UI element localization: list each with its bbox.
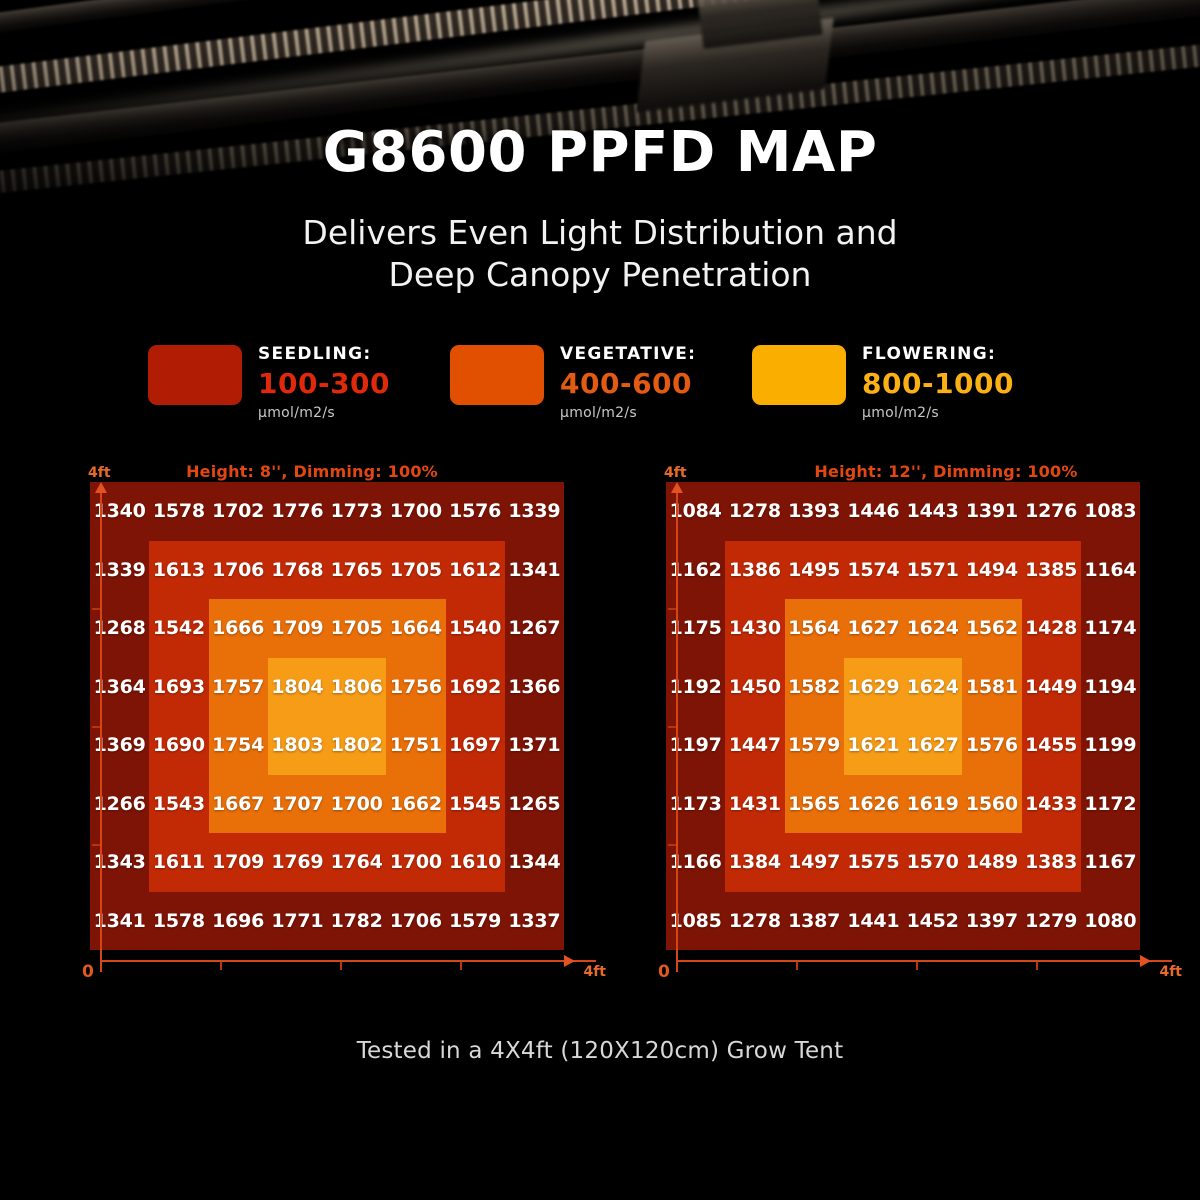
ppfd-cell: 1621 xyxy=(844,716,903,775)
ppfd-cell: 1344 xyxy=(505,833,564,892)
ppfd-cell: 1804 xyxy=(268,658,327,717)
ppfd-cell: 1397 xyxy=(962,892,1021,951)
ppfd-cell: 1662 xyxy=(386,775,445,834)
y-axis-tick xyxy=(668,726,676,728)
ppfd-cell: 1339 xyxy=(90,541,149,600)
ppfd-cell: 1776 xyxy=(268,482,327,541)
ppfd-cell: 1197 xyxy=(666,716,725,775)
y-axis-tick xyxy=(668,844,676,846)
ppfd-cell: 1706 xyxy=(209,541,268,600)
ppfd-cell: 1626 xyxy=(844,775,903,834)
ppfd-cell: 1564 xyxy=(785,599,844,658)
x-axis-tick xyxy=(916,962,918,970)
legend-range-vegetative: 400-600 xyxy=(560,370,696,398)
ppfd-grid-8in: 1340157817021776177317001576133913391613… xyxy=(90,482,564,950)
ppfd-cell: 1700 xyxy=(386,833,445,892)
ppfd-cell: 1700 xyxy=(327,775,386,834)
ppfd-cell: 1666 xyxy=(209,599,268,658)
ppfd-cell: 1278 xyxy=(725,482,784,541)
ppfd-cell: 1085 xyxy=(666,892,725,951)
ppfd-cell: 1337 xyxy=(505,892,564,951)
ppfd-cell: 1278 xyxy=(725,892,784,951)
ppfd-cell: 1497 xyxy=(785,833,844,892)
ppfd-cell: 1167 xyxy=(1081,833,1140,892)
footer-note: Tested in a 4X4ft (120X120cm) Grow Tent xyxy=(0,1038,1200,1064)
origin-label-12in: 0 xyxy=(658,962,670,982)
ppfd-cell: 1267 xyxy=(505,599,564,658)
ppfd-cell: 1803 xyxy=(268,716,327,775)
ppfd-cell: 1709 xyxy=(268,599,327,658)
legend-item-flowering: FLOWERING: 800-1000 µmol/m2/s xyxy=(752,345,1054,417)
ppfd-cell: 1164 xyxy=(1081,541,1140,600)
ppfd-plot-12in: 1084127813931446144313911276108311621386… xyxy=(666,482,1140,950)
subtitle-line-2: Deep Canopy Penetration xyxy=(0,254,1200,296)
ppfd-cell: 1806 xyxy=(327,658,386,717)
ppfd-cell: 1393 xyxy=(785,482,844,541)
x-axis-arrow-icon-12in xyxy=(1140,955,1151,967)
ppfd-cell: 1627 xyxy=(844,599,903,658)
y-axis-tick xyxy=(92,608,100,610)
ppfd-cell: 1385 xyxy=(1022,541,1081,600)
origin-label-8in: 0 xyxy=(82,962,94,982)
ppfd-cell: 1690 xyxy=(149,716,208,775)
ppfd-cell: 1610 xyxy=(446,833,505,892)
page-subtitle: Delivers Even Light Distribution and Dee… xyxy=(0,212,1200,296)
map-title-12in: Height: 12'', Dimming: 100% xyxy=(700,462,1192,481)
ppfd-cell: 1431 xyxy=(725,775,784,834)
legend-range-flowering: 800-1000 xyxy=(862,370,1014,398)
y-axis-tick xyxy=(668,608,676,610)
legend-unit-flowering: µmol/m2/s xyxy=(862,406,1014,420)
ppfd-cell: 1629 xyxy=(844,658,903,717)
y-axis-tick xyxy=(92,844,100,846)
legend-swatch-flowering xyxy=(752,345,846,405)
y-axis-max-label-8in: 4ft xyxy=(88,465,111,481)
ppfd-cell: 1543 xyxy=(149,775,208,834)
legend-swatch-vegetative xyxy=(450,345,544,405)
subtitle-line-1: Delivers Even Light Distribution and xyxy=(0,212,1200,254)
ppfd-cell: 1700 xyxy=(386,482,445,541)
ppfd-cell: 1276 xyxy=(1022,482,1081,541)
ppfd-cell: 1581 xyxy=(962,658,1021,717)
y-axis-max-label-12in: 4ft xyxy=(664,465,687,481)
legend-label-flowering: FLOWERING: xyxy=(862,346,1014,363)
ppfd-cell: 1611 xyxy=(149,833,208,892)
legend-item-vegetative: VEGETATIVE: 400-600 µmol/m2/s xyxy=(450,345,752,417)
x-axis-12in xyxy=(676,960,1172,962)
ppfd-cell: 1540 xyxy=(446,599,505,658)
ppfd-cell: 1443 xyxy=(903,482,962,541)
ppfd-cell: 1387 xyxy=(785,892,844,951)
ppfd-plot-8in: 1340157817021776177317001576133913391613… xyxy=(90,482,564,950)
ppfd-cell: 1751 xyxy=(386,716,445,775)
ppfd-cell: 1705 xyxy=(327,599,386,658)
ppfd-cell: 1447 xyxy=(725,716,784,775)
ppfd-cell: 1495 xyxy=(785,541,844,600)
ppfd-cell: 1579 xyxy=(785,716,844,775)
ppfd-cell: 1757 xyxy=(209,658,268,717)
ppfd-cell: 1194 xyxy=(1081,658,1140,717)
ppfd-cell: 1578 xyxy=(149,892,208,951)
ppfd-cell: 1771 xyxy=(268,892,327,951)
ppfd-cell: 1080 xyxy=(1081,892,1140,951)
ppfd-cell: 1765 xyxy=(327,541,386,600)
ppfd-cell: 1386 xyxy=(725,541,784,600)
ppfd-cell: 1768 xyxy=(268,541,327,600)
ppfd-cell: 1279 xyxy=(1022,892,1081,951)
ppfd-cell: 1667 xyxy=(209,775,268,834)
ppfd-cell: 1706 xyxy=(386,892,445,951)
ppfd-cell: 1576 xyxy=(446,482,505,541)
ppfd-cell: 1578 xyxy=(149,482,208,541)
ppfd-grid-12in: 1084127813931446144313911276108311621386… xyxy=(666,482,1140,950)
ppfd-cell: 1162 xyxy=(666,541,725,600)
ppfd-cell: 1754 xyxy=(209,716,268,775)
ppfd-cell: 1450 xyxy=(725,658,784,717)
ppfd-cell: 1166 xyxy=(666,833,725,892)
x-axis-tick xyxy=(1036,962,1038,970)
ppfd-cell: 1575 xyxy=(844,833,903,892)
ppfd-cell: 1391 xyxy=(962,482,1021,541)
legend-label-seedling: SEEDLING: xyxy=(258,346,390,363)
x-axis-8in xyxy=(100,960,596,962)
ppfd-cell: 1173 xyxy=(666,775,725,834)
ppfd-cell: 1619 xyxy=(903,775,962,834)
y-axis-tick xyxy=(92,726,100,728)
ppfd-cell: 1428 xyxy=(1022,599,1081,658)
ppfd-cell: 1697 xyxy=(446,716,505,775)
ppfd-cell: 1693 xyxy=(149,658,208,717)
x-axis-arrow-icon-8in xyxy=(564,955,575,967)
ppfd-infographic: G8600 PPFD MAP Delivers Even Light Distr… xyxy=(0,0,1200,1200)
ppfd-cell: 1192 xyxy=(666,658,725,717)
ppfd-cell: 1341 xyxy=(505,541,564,600)
ppfd-cell: 1433 xyxy=(1022,775,1081,834)
ppfd-cell: 1199 xyxy=(1081,716,1140,775)
ppfd-cell: 1613 xyxy=(149,541,208,600)
ppfd-cell: 1449 xyxy=(1022,658,1081,717)
ppfd-cell: 1371 xyxy=(505,716,564,775)
ppfd-cell: 1489 xyxy=(962,833,1021,892)
ppfd-cell: 1579 xyxy=(446,892,505,951)
x-axis-tick xyxy=(340,962,342,970)
ppfd-cell: 1570 xyxy=(903,833,962,892)
ppfd-cell: 1369 xyxy=(90,716,149,775)
legend-label-vegetative: VEGETATIVE: xyxy=(560,346,696,363)
ppfd-cell: 1560 xyxy=(962,775,1021,834)
ppfd-cell: 1384 xyxy=(725,833,784,892)
ppfd-cell: 1364 xyxy=(90,658,149,717)
ppfd-cell: 1576 xyxy=(962,716,1021,775)
legend-range-seedling: 100-300 xyxy=(258,370,390,398)
ppfd-cell: 1455 xyxy=(1022,716,1081,775)
ppfd-cell: 1582 xyxy=(785,658,844,717)
ppfd-cell: 1664 xyxy=(386,599,445,658)
ppfd-cell: 1452 xyxy=(903,892,962,951)
ppfd-cell: 1545 xyxy=(446,775,505,834)
page-title: G8600 PPFD MAP xyxy=(0,120,1200,185)
ppfd-cell: 1172 xyxy=(1081,775,1140,834)
ppfd-cell: 1542 xyxy=(149,599,208,658)
ppfd-cell: 1446 xyxy=(844,482,903,541)
ppfd-cell: 1692 xyxy=(446,658,505,717)
ppfd-cell: 1574 xyxy=(844,541,903,600)
ppfd-cell: 1627 xyxy=(903,716,962,775)
ppfd-cell: 1696 xyxy=(209,892,268,951)
ppfd-cell: 1707 xyxy=(268,775,327,834)
ppfd-cell: 1709 xyxy=(209,833,268,892)
ppfd-cell: 1571 xyxy=(903,541,962,600)
ppfd-cell: 1383 xyxy=(1022,833,1081,892)
ppfd-cell: 1430 xyxy=(725,599,784,658)
ppfd-cell: 1769 xyxy=(268,833,327,892)
ppfd-cell: 1702 xyxy=(209,482,268,541)
x-axis-max-label-12in: 4ft xyxy=(1159,964,1182,980)
ppfd-cell: 1565 xyxy=(785,775,844,834)
x-axis-tick xyxy=(220,962,222,970)
y-axis-12in xyxy=(676,490,678,972)
ppfd-cell: 1562 xyxy=(962,599,1021,658)
ppfd-cell: 1174 xyxy=(1081,599,1140,658)
ppfd-legend: SEEDLING: 100-300 µmol/m2/s VEGETATIVE: … xyxy=(148,345,1054,417)
ppfd-cell: 1624 xyxy=(903,658,962,717)
ppfd-cell: 1802 xyxy=(327,716,386,775)
map-title-8in: Height: 8'', Dimming: 100% xyxy=(66,462,558,481)
legend-unit-vegetative: µmol/m2/s xyxy=(560,406,696,420)
legend-item-seedling: SEEDLING: 100-300 µmol/m2/s xyxy=(148,345,450,417)
ppfd-cell: 1366 xyxy=(505,658,564,717)
ppfd-cell: 1441 xyxy=(844,892,903,951)
y-axis-arrow-icon-12in xyxy=(671,482,683,493)
x-axis-max-label-8in: 4ft xyxy=(583,964,606,980)
ppfd-cell: 1265 xyxy=(505,775,564,834)
ppfd-cell: 1083 xyxy=(1081,482,1140,541)
ppfd-cell: 1339 xyxy=(505,482,564,541)
y-axis-8in xyxy=(100,490,102,972)
ppfd-cell: 1266 xyxy=(90,775,149,834)
ppfd-cell: 1612 xyxy=(446,541,505,600)
x-axis-tick xyxy=(460,962,462,970)
ppfd-cell: 1343 xyxy=(90,833,149,892)
ppfd-cell: 1756 xyxy=(386,658,445,717)
ppfd-cell: 1705 xyxy=(386,541,445,600)
ppfd-cell: 1341 xyxy=(90,892,149,951)
y-axis-arrow-icon-8in xyxy=(95,482,107,493)
ppfd-cell: 1773 xyxy=(327,482,386,541)
legend-unit-seedling: µmol/m2/s xyxy=(258,406,390,420)
ppfd-cell: 1624 xyxy=(903,599,962,658)
ppfd-cell: 1782 xyxy=(327,892,386,951)
ppfd-cell: 1494 xyxy=(962,541,1021,600)
ppfd-cell: 1764 xyxy=(327,833,386,892)
legend-swatch-seedling xyxy=(148,345,242,405)
x-axis-tick xyxy=(796,962,798,970)
